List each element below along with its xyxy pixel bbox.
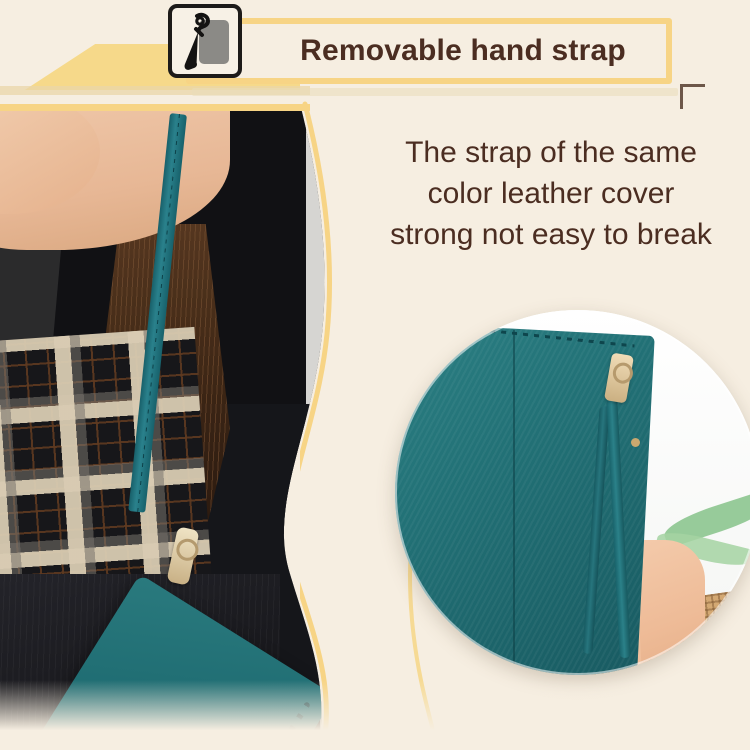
photo-top-accent-line [0, 104, 310, 111]
strap-and-phone-icon [168, 4, 242, 78]
page-title: Removable hand strap [258, 22, 668, 80]
product-feature-banner: Removable hand strap The strap of the sa… [0, 0, 750, 750]
description-line-1: The strap of the same [358, 132, 744, 173]
description-block: The strap of the same color leather cove… [358, 132, 744, 255]
closeup-inset-photo [395, 310, 750, 675]
inset-strap-rivet [631, 438, 640, 447]
photo-case-studs [272, 701, 311, 750]
corner-bracket-decoration [680, 84, 705, 109]
inset-case-spine [513, 330, 515, 675]
description-line-3: strong not easy to break [358, 214, 744, 255]
description-line-2: color leather cover [358, 173, 744, 214]
header-frame-shadow [192, 88, 678, 96]
